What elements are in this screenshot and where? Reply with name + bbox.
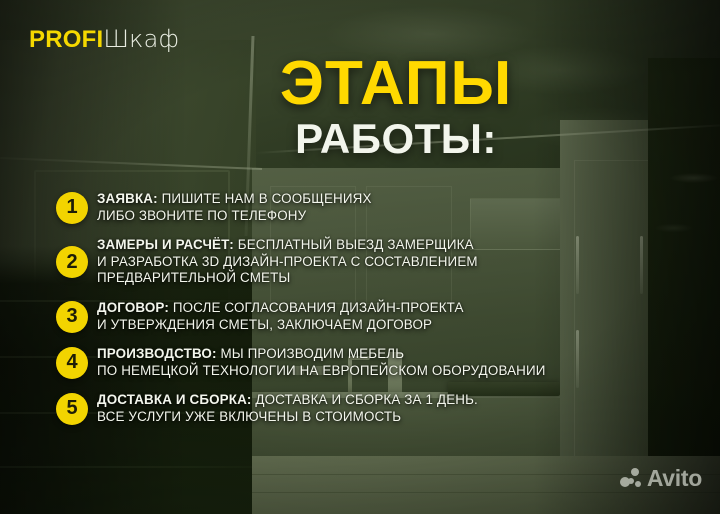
logo-shkaf-text: Шкаф xyxy=(103,25,179,53)
step-text: ДОСТАВКА И СБОРКА: ДОСТАВКА И СБОРКА ЗА … xyxy=(97,392,478,425)
step-lead: ПРОИЗВОДСТВО: xyxy=(97,346,217,361)
brand-logo[interactable]: PROFIШкаф xyxy=(29,27,179,52)
step-text: ЗАЯВКА: ПИШИТЕ НАМ В СООБЩЕНИЯХ ЛИБО ЗВО… xyxy=(97,191,372,224)
step-line: И РАЗРАБОТКА 3D ДИЗАЙН-ПРОЕКТА С СОСТАВЛ… xyxy=(97,254,478,271)
page-title: ЭТАПЫ xyxy=(0,55,720,114)
step-lead: ДОГОВОР: xyxy=(97,300,169,315)
step-line: МЫ ПРОИЗВОДИМ МЕБЕЛЬ xyxy=(217,346,405,361)
list-item: 3 ДОГОВОР: ПОСЛЕ СОГЛАСОВАНИЯ ДИЗАЙН-ПРО… xyxy=(56,300,706,333)
step-number-badge: 4 xyxy=(56,347,88,379)
step-lead: ЗАЯВКА: xyxy=(97,191,158,206)
step-text: ЗАМЕРЫ И РАСЧЁТ: БЕСПЛАТНЫЙ ВЫЕЗД ЗАМЕРЩ… xyxy=(97,237,478,287)
avito-dots-icon xyxy=(620,468,642,490)
list-item: 2 ЗАМЕРЫ И РАСЧЁТ: БЕСПЛАТНЫЙ ВЫЕЗД ЗАМЕ… xyxy=(56,237,706,287)
step-line: ПИШИТЕ НАМ В СООБЩЕНИЯХ xyxy=(158,191,372,206)
step-line: ПРЕДВАРИТЕЛЬНОЙ СМЕТЫ xyxy=(97,270,478,287)
step-line: ДОСТАВКА И СБОРКА ЗА 1 ДЕНЬ. xyxy=(252,392,478,407)
step-text: ДОГОВОР: ПОСЛЕ СОГЛАСОВАНИЯ ДИЗАЙН-ПРОЕК… xyxy=(97,300,464,333)
avito-watermark: Avito xyxy=(620,465,702,492)
step-number-badge: 5 xyxy=(56,393,88,425)
step-lead: ЗАМЕРЫ И РАСЧЁТ: xyxy=(97,237,234,252)
list-item: 1 ЗАЯВКА: ПИШИТЕ НАМ В СООБЩЕНИЯХ ЛИБО З… xyxy=(56,191,706,224)
step-line: И УТВЕРЖДЕНИЯ СМЕТЫ, ЗАКЛЮЧАЕМ ДОГОВОР xyxy=(97,317,464,334)
step-number-badge: 2 xyxy=(56,246,88,278)
steps-list: 1 ЗАЯВКА: ПИШИТЕ НАМ В СООБЩЕНИЯХ ЛИБО З… xyxy=(56,191,706,439)
list-item: 5 ДОСТАВКА И СБОРКА: ДОСТАВКА И СБОРКА З… xyxy=(56,392,706,425)
list-item: 4 ПРОИЗВОДСТВО: МЫ ПРОИЗВОДИМ МЕБЕЛЬ ПО … xyxy=(56,346,706,379)
step-text: ПРОИЗВОДСТВО: МЫ ПРОИЗВОДИМ МЕБЕЛЬ ПО НЕ… xyxy=(97,346,546,379)
title-block: ЭТАПЫ РАБОТЫ: xyxy=(0,55,720,160)
logo-profi-text: PROFI xyxy=(29,26,103,53)
page-subtitle: РАБОТЫ: xyxy=(0,118,720,160)
step-line: ВСЕ УСЛУГИ УЖЕ ВКЛЮЧЕНЫ В СТОИМОСТЬ xyxy=(97,409,478,426)
step-line: БЕСПЛАТНЫЙ ВЫЕЗД ЗАМЕРЩИКА xyxy=(234,237,474,252)
step-line: ПО НЕМЕЦКОЙ ТЕХНОЛОГИИ НА ЕВРОПЕЙСКОМ ОБ… xyxy=(97,363,546,380)
step-number-badge: 3 xyxy=(56,301,88,333)
step-lead: ДОСТАВКА И СБОРКА: xyxy=(97,392,252,407)
step-line: ЛИБО ЗВОНИТЕ ПО ТЕЛЕФОНУ xyxy=(97,208,372,225)
poster-content: PROFIШкаф ЭТАПЫ РАБОТЫ: 1 ЗАЯВКА: ПИШИТЕ… xyxy=(0,0,720,514)
step-line: ПОСЛЕ СОГЛАСОВАНИЯ ДИЗАЙН-ПРОЕКТА xyxy=(169,300,464,315)
avito-wordmark: Avito xyxy=(647,465,702,492)
step-number-badge: 1 xyxy=(56,192,88,224)
promo-poster: PROFIШкаф ЭТАПЫ РАБОТЫ: 1 ЗАЯВКА: ПИШИТЕ… xyxy=(0,0,720,514)
